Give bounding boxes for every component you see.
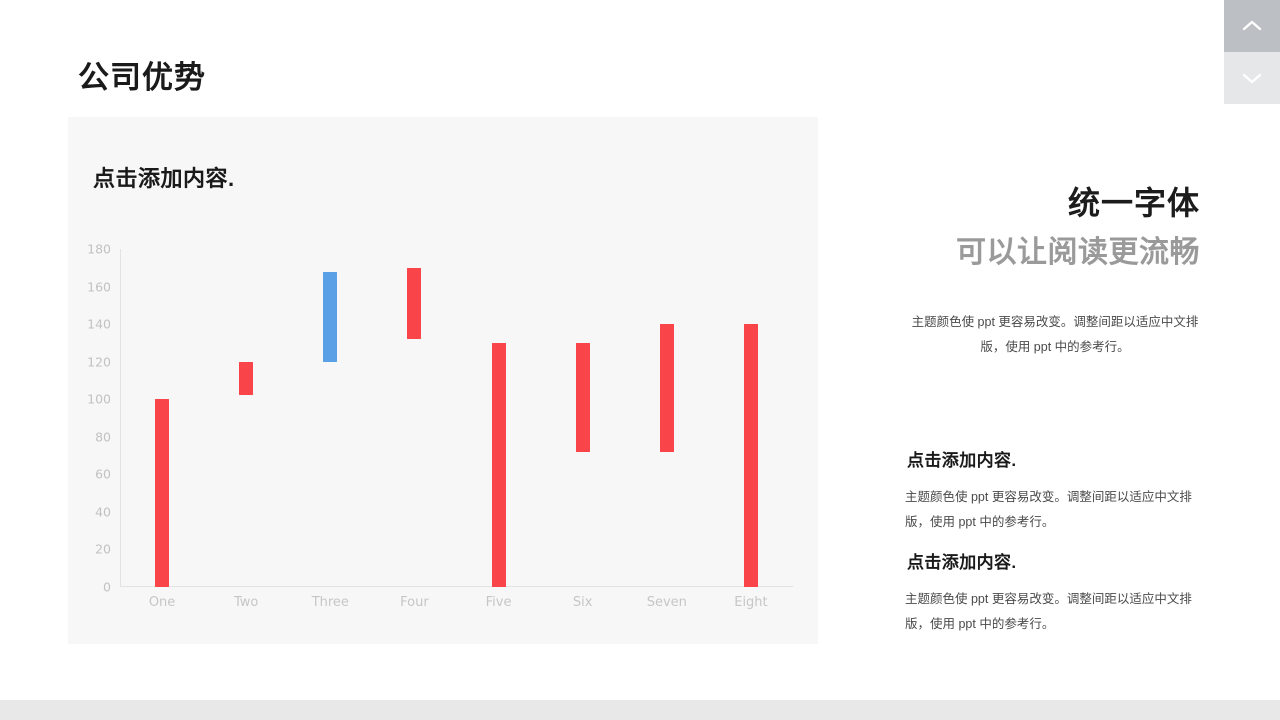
chart-panel: 点击添加内容. 020406080100120140160180OneTwoTh… <box>68 117 818 644</box>
content-block-2-body: 主题颜色使 ppt 更容易改变。调整间距以适应中文排版，使用 ppt 中的参考行… <box>905 587 1197 637</box>
y-axis-line <box>120 249 121 587</box>
headline-secondary: 可以让阅读更流畅 <box>956 236 1200 271</box>
y-axis-tick-label: 180 <box>87 242 111 257</box>
chart-bar[interactable] <box>407 268 421 339</box>
content-block-1-body: 主题颜色使 ppt 更容易改变。调整间距以适应中文排版，使用 ppt 中的参考行… <box>905 485 1197 535</box>
y-axis-tick-label: 60 <box>95 467 111 482</box>
headline-primary: 统一字体 <box>1068 185 1200 222</box>
slide-nav-widget <box>1224 0 1280 104</box>
chart-bar[interactable] <box>744 324 758 587</box>
nav-prev-button[interactable] <box>1224 0 1280 52</box>
y-axis-tick-label: 20 <box>95 542 111 557</box>
right-content-column: 统一字体 可以让阅读更流畅 主题颜色使 ppt 更容易改变。调整间距以适应中文排… <box>880 0 1210 720</box>
bar-chart-plot-area: 020406080100120140160180OneTwoThreeFourF… <box>120 249 793 587</box>
chart-bar[interactable] <box>492 343 506 587</box>
chart-bar[interactable] <box>660 324 674 452</box>
x-axis-tick-label: Seven <box>647 595 687 610</box>
x-axis-tick-label: Eight <box>734 595 767 610</box>
x-axis-tick-label: Six <box>573 595 593 610</box>
nav-next-button[interactable] <box>1224 52 1280 104</box>
chart-bar[interactable] <box>155 399 169 587</box>
x-axis-tick-label: Two <box>234 595 258 610</box>
y-axis-tick-label: 0 <box>103 580 111 595</box>
y-axis-tick-label: 80 <box>95 429 111 444</box>
content-block-2-title: 点击添加内容. <box>907 548 1197 573</box>
x-axis-line <box>120 586 793 587</box>
content-block-2: 点击添加内容. 主题颜色使 ppt 更容易改变。调整间距以适应中文排版，使用 p… <box>905 548 1197 637</box>
y-axis-tick-label: 40 <box>95 504 111 519</box>
chart-title: 点击添加内容. <box>93 161 235 193</box>
y-axis-tick-label: 100 <box>87 392 111 407</box>
intro-paragraph: 主题颜色使 ppt 更容易改变。调整间距以适应中文排版，使用 ppt 中的参考行… <box>910 310 1200 360</box>
chevron-up-icon <box>1241 19 1263 33</box>
x-axis-tick-label: One <box>149 595 175 610</box>
chart-bar[interactable] <box>239 362 253 396</box>
content-block-1: 点击添加内容. 主题颜色使 ppt 更容易改变。调整间距以适应中文排版，使用 p… <box>905 446 1197 535</box>
x-axis-tick-label: Four <box>400 595 429 610</box>
y-axis-tick-label: 140 <box>87 317 111 332</box>
x-axis-tick-label: Three <box>312 595 349 610</box>
chart-bar[interactable] <box>323 272 337 362</box>
footer-band <box>0 700 1280 720</box>
page-title: 公司优势 <box>78 62 206 93</box>
content-block-1-title: 点击添加内容. <box>907 446 1197 471</box>
y-axis-tick-label: 160 <box>87 279 111 294</box>
y-axis-tick-label: 120 <box>87 354 111 369</box>
chevron-down-icon <box>1241 71 1263 85</box>
chart-bar[interactable] <box>576 343 590 452</box>
x-axis-tick-label: Five <box>486 595 512 610</box>
